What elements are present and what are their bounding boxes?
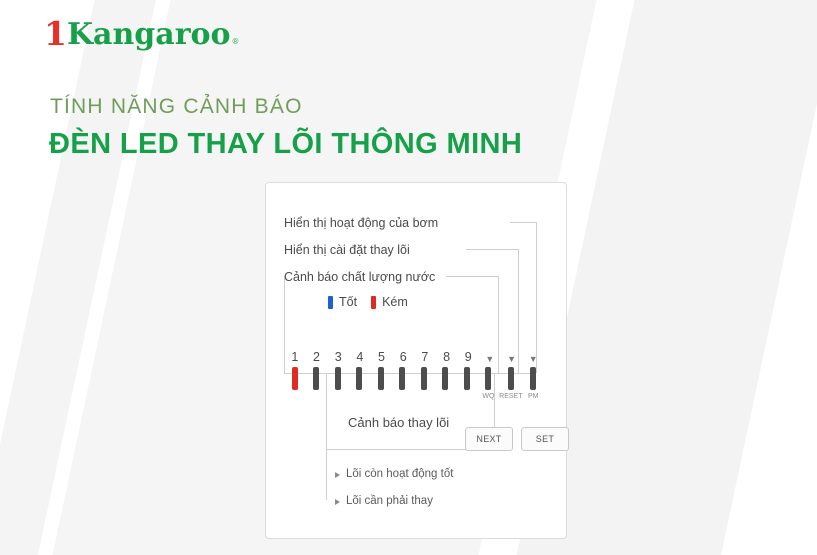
connector-line-setup-h [466,249,518,250]
led-cell[interactable] [306,367,328,400]
led-number: 7 [414,350,436,364]
legend-swatch-bad-icon [371,296,376,309]
led-cell-reset[interactable]: RESET [499,367,522,400]
led-number: 3 [327,350,349,364]
led-cell-wq[interactable]: WQ [478,367,500,400]
device-panel-diagram: Hiển thị hoạt động của bơm Hiển thị cài … [265,182,567,539]
note-filter-replace: Lõi cần phải thay [346,495,433,507]
led-bar-row: WQ RESET PM [284,367,544,400]
led-number: 9 [457,350,479,364]
legend-label-bad: Kém [382,295,408,309]
label-filter-replacement-alert: Cảnh báo thay lõi [348,415,449,430]
led-sublabel-reset: RESET [499,393,522,400]
led-bar-wq-icon [485,367,491,390]
led-number: 6 [392,350,414,364]
led-bar-2-icon [313,367,319,390]
led-bar-3-icon [335,367,341,390]
page-root: 1 Kangaroo ® TÍNH NĂNG CẢNH BÁO ĐÈN LED … [0,0,817,555]
page-subtitle: TÍNH NĂNG CẢNH BÁO [50,95,303,119]
led-marker-pm-icon: ▼ [522,354,544,364]
led-bar-8-icon [442,367,448,390]
led-marker-wq-icon: ▼ [479,354,501,364]
legend: Tốt Kém [328,295,408,309]
led-bar-pm-icon [530,367,536,390]
connector-line-pump-h [510,222,536,223]
label-pump-status: Hiển thị hoạt động của bơm [284,216,438,230]
legend-swatch-good-icon [328,296,333,309]
led-sublabel-wq: WQ [482,393,494,400]
led-cell-pm[interactable]: PM [523,367,545,400]
led-number: 8 [436,350,458,364]
logo-numeral: 1 [44,17,66,50]
led-marker-reset-icon: ▼ [501,354,523,364]
next-button[interactable]: NEXT [465,427,513,451]
led-cell[interactable] [456,367,478,400]
led-bar-6-icon [399,367,405,390]
led-indicator-row: 1 2 3 4 5 6 7 8 9 ▼ ▼ ▼ [284,348,544,400]
led-cell[interactable] [392,367,414,400]
connector-line-wq-h [446,276,498,277]
led-cell[interactable] [435,367,457,400]
note-filter-ok: Lõi còn hoạt động tốt [346,468,453,480]
kangaroo-logo: 1 Kangaroo ® [44,16,238,50]
led-cell[interactable] [370,367,392,400]
legend-item-good: Tốt [328,295,357,309]
control-buttons: NEXT SET [465,427,569,451]
legend-label-good: Tốt [339,295,357,309]
led-cell[interactable] [284,367,306,400]
led-number: 4 [349,350,371,364]
led-number: 2 [306,350,328,364]
led-bar-7-icon [421,367,427,390]
led-cell[interactable] [413,367,435,400]
page-title: ĐÈN LED THAY LÕI THÔNG MINH [49,128,522,161]
note-arrow-1-icon [335,472,340,478]
led-sublabel-pm: PM [528,393,539,400]
led-bar-1-icon [292,367,298,390]
led-bar-9-icon [464,367,470,390]
led-number: 1 [284,350,306,364]
legend-item-bad: Kém [371,295,408,309]
registered-trademark-icon: ® [233,37,239,46]
led-number: 5 [371,350,393,364]
led-bar-reset-icon [508,367,514,390]
note-arrow-2-icon [335,499,340,505]
led-cell[interactable] [349,367,371,400]
label-water-quality: Cảnh báo chất lượng nước [284,270,435,284]
led-number-row: 1 2 3 4 5 6 7 8 9 ▼ ▼ ▼ [284,348,544,364]
set-button[interactable]: SET [521,427,569,451]
led-bar-5-icon [378,367,384,390]
led-bar-4-icon [356,367,362,390]
label-filter-setup: Hiển thị cài đặt thay lõi [284,243,410,257]
logo-wordmark: Kangaroo [67,20,231,50]
led-cell[interactable] [327,367,349,400]
